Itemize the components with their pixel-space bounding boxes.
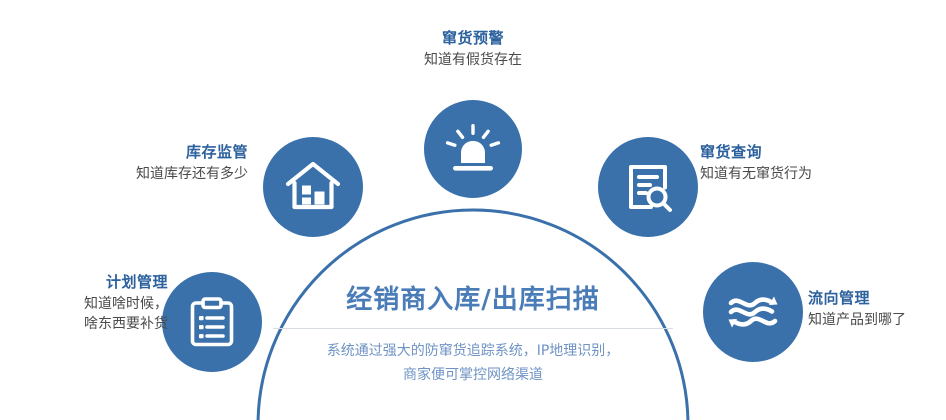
node-circle-alert[interactable] <box>424 100 522 198</box>
label-block-inventory: 库存监管 知道库存还有多少 <box>48 142 248 184</box>
node-desc-query-line-0: 知道有无窜货行为 <box>700 164 920 184</box>
center-subtitle: 系统通过强大的防窜货追踪系统，IP地理识别， 商家便可掌控网络渠道 <box>273 339 673 388</box>
label-block-plan: 计划管理 知道啥时候， 啥东西要补货 <box>0 272 168 334</box>
center-title: 经销商入库/出库扫描 <box>273 286 673 315</box>
node-circle-flow[interactable] <box>703 262 803 362</box>
flow-waves-icon <box>724 283 782 341</box>
node-circle-query[interactable] <box>598 137 698 237</box>
center-subtitle-line-0: 系统通过强大的防窜货追踪系统，IP地理识别， <box>273 339 673 364</box>
node-circle-plan[interactable] <box>162 272 262 372</box>
node-title-alert: 窜货预警 <box>373 28 573 50</box>
node-title-inventory: 库存监管 <box>48 142 248 164</box>
node-desc-inventory-line-0: 知道库存还有多少 <box>48 164 248 184</box>
node-circle-inventory[interactable] <box>263 137 363 237</box>
warehouse-house-icon <box>284 158 342 216</box>
node-desc-plan-line-1: 啥东西要补货 <box>0 314 168 334</box>
node-title-plan: 计划管理 <box>0 272 168 294</box>
clipboard-checklist-icon <box>185 295 239 349</box>
node-desc-plan-line-0: 知道啥时候， <box>0 294 168 314</box>
node-desc-alert-line-0: 知道有假货存在 <box>373 50 573 70</box>
siren-icon <box>445 121 501 177</box>
document-search-icon <box>620 159 676 215</box>
label-block-alert: 窜货预警 知道有假货存在 <box>373 28 573 70</box>
center-divider <box>273 328 673 329</box>
center-subtitle-line-1: 商家便可掌控网络渠道 <box>273 363 673 388</box>
infographic-canvas: 窜货预警 知道有假货存在 库存监管 知道库存还有多少 <box>0 0 946 420</box>
label-block-query: 窜货查询 知道有无窜货行为 <box>700 142 920 184</box>
node-desc-flow-line-0: 知道产品到哪了 <box>808 310 946 330</box>
label-block-flow: 流向管理 知道产品到哪了 <box>808 288 946 330</box>
node-title-flow: 流向管理 <box>808 288 946 310</box>
center-text-block: 经销商入库/出库扫描 系统通过强大的防窜货追踪系统，IP地理识别， 商家便可掌控… <box>273 286 673 388</box>
node-title-query: 窜货查询 <box>700 142 920 164</box>
